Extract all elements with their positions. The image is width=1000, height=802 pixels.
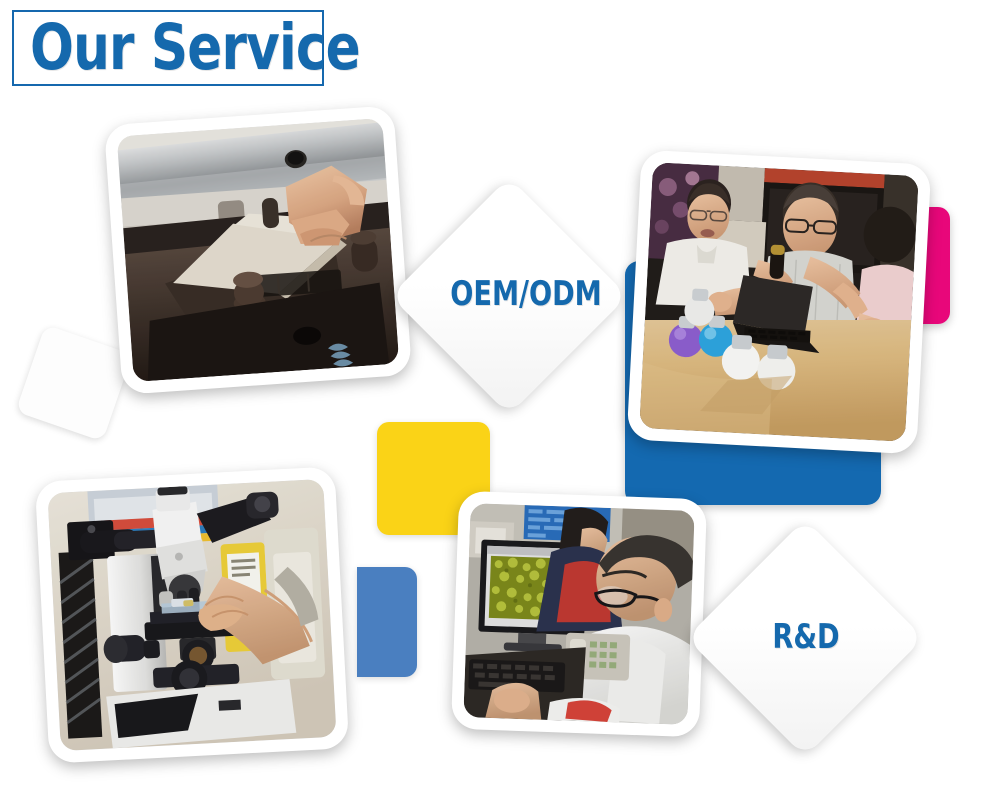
photo-die-cutting-art (117, 118, 400, 382)
page-title-box: Our Service (12, 10, 324, 86)
badge-oem-odm[interactable] (390, 177, 628, 415)
page-title: Our Service (30, 16, 360, 80)
badge-rd[interactable] (686, 519, 924, 757)
photo-card-die-cutting[interactable] (104, 105, 412, 395)
accent-white-square (16, 325, 133, 442)
accent-blue-square (357, 567, 417, 677)
photo-client-meeting (639, 162, 919, 442)
photo-lab-computer-art (463, 503, 694, 725)
photo-card-client-meeting[interactable] (627, 150, 932, 455)
photo-card-lab-computer[interactable] (451, 491, 707, 738)
photo-die-cutting (117, 118, 400, 382)
photo-microscope-art (47, 479, 336, 751)
photo-lab-computer (463, 503, 694, 725)
photo-microscope (47, 479, 336, 751)
service-poster: Our Service (0, 0, 1000, 802)
photo-card-microscope[interactable] (35, 466, 349, 763)
photo-client-meeting-art (639, 162, 919, 442)
